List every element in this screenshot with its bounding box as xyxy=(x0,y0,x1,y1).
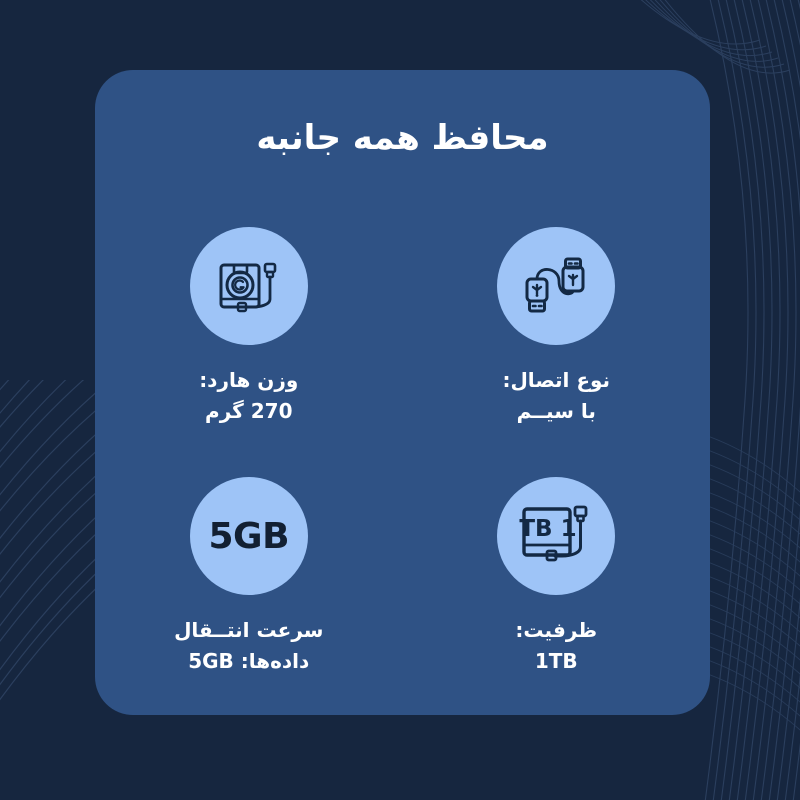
feature-label: سرعت انتــقال داده‌ها: 5GB xyxy=(174,615,323,677)
hard-drive-capacity-icon: 1 TB xyxy=(497,477,615,595)
transfer-speed-value: 5GB xyxy=(208,516,289,557)
feature-label: وزن هارد: 270 گرم xyxy=(199,365,298,427)
capacity-icon-text: 1 TB xyxy=(520,516,577,542)
feature-transfer-speed: 5GB سرعت انتــقال داده‌ها: 5GB xyxy=(95,465,403,715)
feature-capacity: 1 TB ظرفیت: 1TB xyxy=(403,465,711,715)
feature-label-line1: ظرفیت: xyxy=(515,615,597,646)
feature-label-line2: 270 گرم xyxy=(199,396,298,427)
feature-label-line1: سرعت انتــقال xyxy=(174,615,323,646)
feature-label: ظرفیت: 1TB xyxy=(515,615,597,677)
spec-card: محافظ همه جانبه xyxy=(95,70,710,715)
feature-label-line2: 1TB xyxy=(515,646,597,677)
infographic-canvas: محافظ همه جانبه xyxy=(0,0,800,800)
external-hard-drive-icon xyxy=(190,227,308,345)
page-title: محافظ همه جانبه xyxy=(95,118,710,159)
feature-label-line1: وزن هارد: xyxy=(199,365,298,396)
feature-grid: نوع اتصال: با سیــم xyxy=(95,215,710,715)
transfer-speed-badge: 5GB xyxy=(190,477,308,595)
feature-label-line2: با سیــم xyxy=(502,396,610,427)
feature-label-line1: نوع اتصال: xyxy=(502,365,610,396)
feature-label: نوع اتصال: با سیــم xyxy=(502,365,610,427)
usb-cable-icon xyxy=(497,227,615,345)
feature-label-line2: داده‌ها: 5GB xyxy=(174,646,323,677)
feature-connection-type: نوع اتصال: با سیــم xyxy=(403,215,711,465)
feature-drive-weight: وزن هارد: 270 گرم xyxy=(95,215,403,465)
